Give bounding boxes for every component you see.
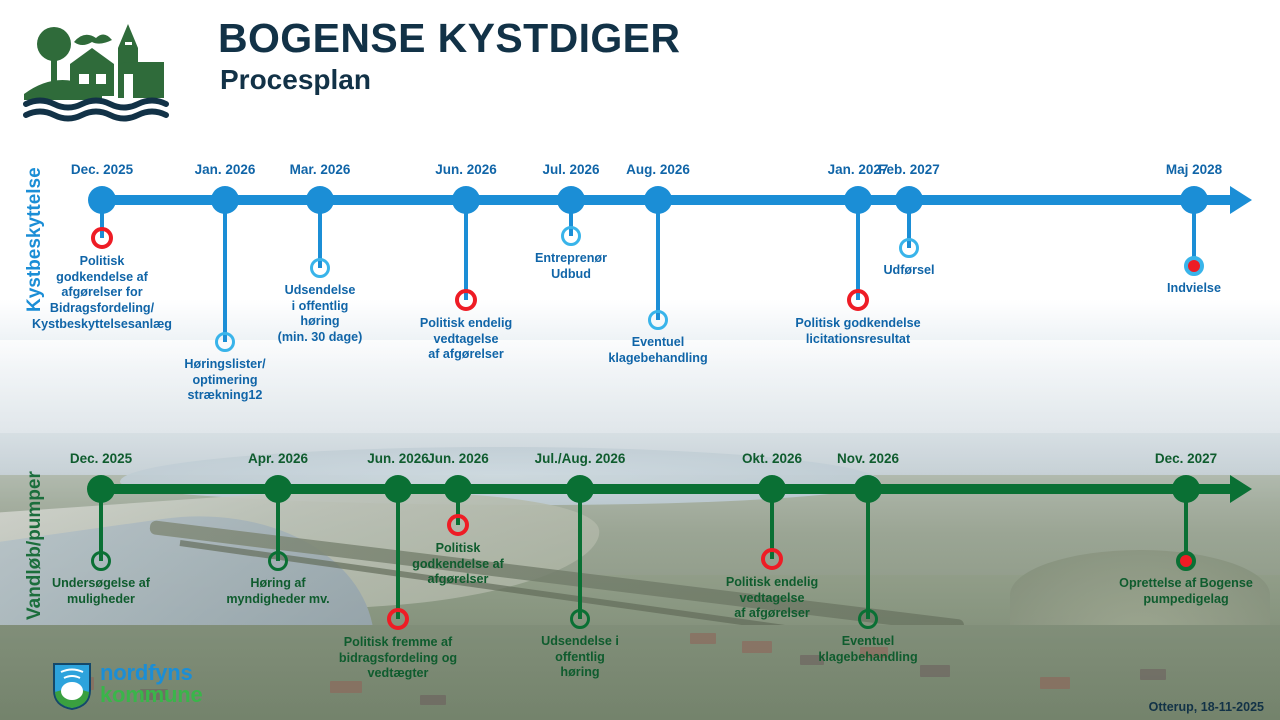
node-date-label: Jun. 2026	[388, 451, 528, 466]
node-description: Eventuel klagebehandling	[783, 634, 953, 665]
timeline-arrow-icon	[1230, 475, 1252, 503]
node-milestone-marker-green-ring[interactable]	[858, 609, 878, 629]
node-milestone-marker-green-ring[interactable]	[268, 551, 288, 571]
node-milestone-marker-red-fill-green-ring[interactable]	[1176, 551, 1196, 571]
node-date-label: Apr. 2026	[208, 451, 348, 466]
node-milestone-marker-red-ring[interactable]	[447, 514, 469, 536]
nordfyns-shield-logo-icon	[52, 662, 92, 710]
nordfyns-kommune-logo: nordfyns kommune	[52, 662, 242, 712]
node-connector-stem	[866, 489, 870, 619]
node-milestone-marker-red-ring[interactable]	[761, 548, 783, 570]
node-description: Politisk godkendelse af afgørelser	[378, 541, 538, 588]
timeline-vandlob-pumper: Dec. 2025Undersøgelse af mulighederApr. …	[0, 0, 1280, 720]
node-description: Høring af myndigheder mv.	[188, 576, 368, 607]
date-stamp: Otterup, 18-11-2025	[1149, 700, 1264, 714]
axis-label-kystbeskyttelse: Kystbeskyttelse	[24, 167, 46, 312]
node-date-label: Jul./Aug. 2026	[510, 451, 650, 466]
node-milestone-marker-green-ring[interactable]	[91, 551, 111, 571]
node-description: Politisk endelig vedtagelse af afgørelse…	[687, 575, 857, 622]
node-description: Politisk fremme af bidragsfordeling og v…	[298, 635, 498, 682]
node-description: Udsendelse i offentlig høring	[505, 634, 655, 681]
node-date-label: Nov. 2026	[798, 451, 938, 466]
node-description: Oprettelse af Bogense pumpedigelag	[1071, 576, 1280, 607]
node-date-label: Dec. 2027	[1116, 451, 1256, 466]
axis-label-vandlob-pumper: Vandløb/pumper	[24, 471, 46, 620]
infographic-canvas: BOGENSE KYSTDIGER Procesplan Dec. 2025Po…	[0, 0, 1280, 720]
node-milestone-marker-red-ring[interactable]	[387, 608, 409, 630]
node-connector-stem	[578, 489, 582, 619]
node-date-label: Dec. 2025	[31, 451, 171, 466]
node-milestone-marker-green-ring[interactable]	[570, 609, 590, 629]
kommune-logo-line2: kommune	[100, 682, 203, 708]
